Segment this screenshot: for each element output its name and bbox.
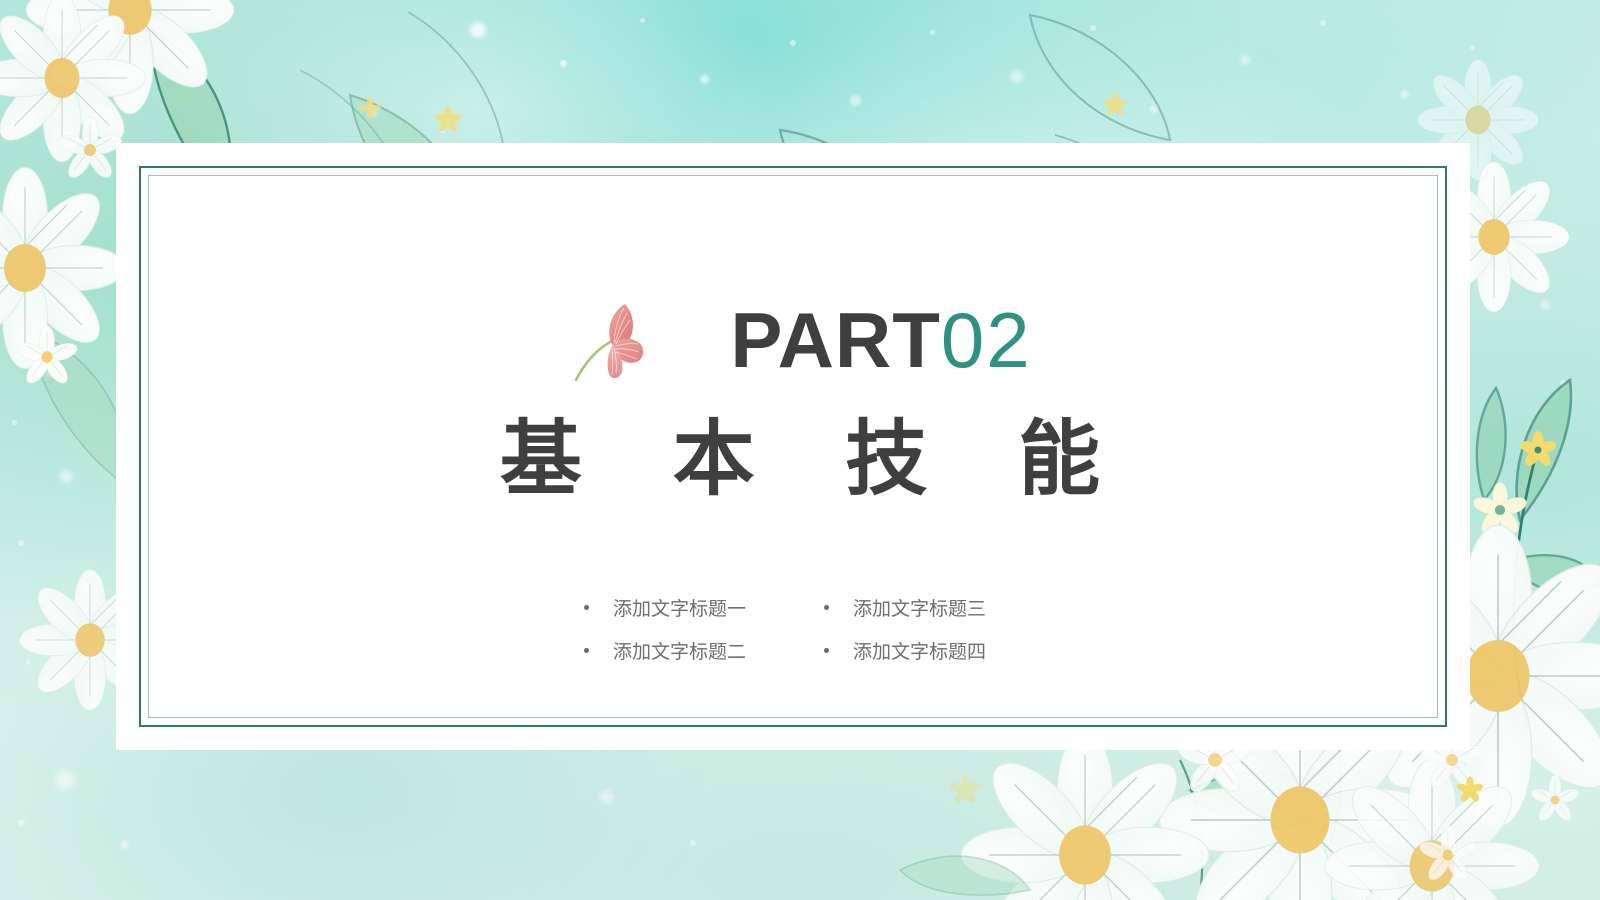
list-item[interactable]: 添加文字标题三 (824, 586, 1064, 629)
list-item-label: 添加文字标题三 (853, 594, 986, 621)
list-item-label: 添加文字标题一 (613, 594, 746, 621)
section-label-number: 02 (941, 296, 1032, 384)
section-label: PART02 (730, 301, 1031, 379)
bullet-dot-icon (824, 605, 829, 610)
bullet-dot-icon (584, 648, 589, 653)
page-title: 基 本 技 能 (0, 415, 1600, 505)
list-item[interactable]: 添加文字标题二 (584, 629, 824, 672)
bullet-list: 添加文字标题一 添加文字标题三 添加文字标题二 添加文字标题四 (0, 586, 1600, 672)
list-item-label: 添加文字标题四 (853, 637, 986, 664)
section-heading-row: PART02 (0, 292, 1600, 388)
pink-tulip-icon (568, 292, 664, 388)
bullet-dot-icon (584, 605, 589, 610)
list-item[interactable]: 添加文字标题四 (824, 629, 1064, 672)
slide-content: PART02 基 本 技 能 添加文字标题一 添加文字标题三 添加文字标题二 (0, 0, 1600, 900)
slide-canvas: PART02 基 本 技 能 添加文字标题一 添加文字标题三 添加文字标题二 (0, 0, 1600, 900)
bullet-dot-icon (824, 648, 829, 653)
section-label-word: PART (730, 296, 941, 384)
list-item[interactable]: 添加文字标题一 (584, 586, 824, 629)
list-item-label: 添加文字标题二 (613, 637, 746, 664)
